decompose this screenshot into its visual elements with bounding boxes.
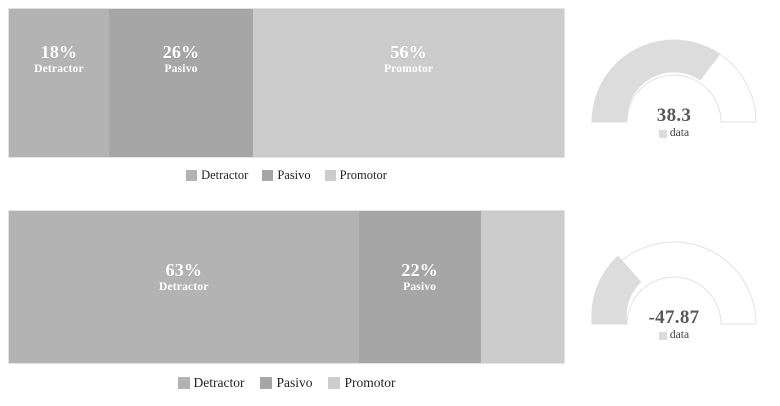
legend-swatch-icon: [328, 377, 340, 389]
bar-segment-promotor[interactable]: 56% Promotor: [253, 9, 564, 157]
gauge-series-swatch-icon: [659, 332, 667, 340]
gauge-chart-panel-2: -47.87 data: [572, 210, 776, 402]
nps-dashboard: 18% Detractor 26% Pasivo 56% Promotor: [0, 0, 780, 406]
bar-segment-percent: 18%: [41, 43, 78, 62]
legend-item-pasivo[interactable]: Pasivo: [260, 376, 312, 390]
bar-segment-percent: 26%: [163, 43, 200, 62]
gauge-arc-graphic: [584, 232, 764, 332]
chart-legend-2: Detractor Pasivo Promotor: [8, 376, 565, 390]
legend-swatch-icon: [178, 377, 190, 389]
legend-item-label: Detractor: [201, 169, 248, 182]
bar-segment-name: Promotor: [384, 62, 433, 77]
legend-item-promotor[interactable]: Promotor: [325, 169, 387, 182]
bar-segment-name: Pasivo: [403, 280, 436, 295]
gauge-chart-1: 38.3 data: [572, 8, 776, 198]
bar-segment-name: Detractor: [34, 62, 84, 77]
bar-segment-label-group: 22% Pasivo: [359, 261, 481, 295]
legend-item-label: Promotor: [340, 169, 387, 182]
bar-segment-detractor[interactable]: 18% Detractor: [9, 9, 109, 157]
bar-segment-label-group: 18% Detractor: [9, 43, 109, 77]
chart-legend-1: Detractor Pasivo Promotor: [8, 169, 565, 182]
nps-chart-panel-1: 18% Detractor 26% Pasivo 56% Promotor: [8, 8, 565, 198]
legend-item-detractor[interactable]: Detractor: [178, 376, 245, 390]
legend-item-pasivo[interactable]: Pasivo: [262, 169, 310, 182]
gauge-chart-2: -47.87 data: [572, 210, 776, 400]
bar-segment-name: Pasivo: [164, 62, 197, 77]
legend-item-label: Detractor: [194, 376, 245, 390]
legend-swatch-icon: [325, 170, 336, 181]
bar-segment-percent: 63%: [166, 261, 203, 280]
legend-swatch-icon: [262, 170, 273, 181]
nps-chart-panel-2: 63% Detractor 22% Pasivo Detra: [8, 210, 565, 402]
legend-item-label: Promotor: [344, 376, 395, 390]
stacked-bar-chart-1: 18% Detractor 26% Pasivo 56% Promotor: [8, 8, 565, 158]
bar-segment-label-group: 63% Detractor: [9, 261, 359, 295]
bar-segment-label-group: 56% Promotor: [253, 43, 564, 77]
legend-swatch-icon: [260, 377, 272, 389]
bar-segment-pasivo[interactable]: 26% Pasivo: [109, 9, 253, 157]
gauge-series-swatch-icon: [659, 130, 667, 138]
bar-segment-name: Detractor: [159, 280, 209, 295]
bar-segment-detractor[interactable]: 63% Detractor: [9, 211, 359, 363]
stacked-bar-chart-2: 63% Detractor 22% Pasivo: [8, 210, 565, 364]
gauge-arc-graphic: [584, 30, 764, 130]
legend-item-label: Pasivo: [277, 169, 310, 182]
bar-segment-percent: 56%: [390, 43, 427, 62]
bar-segment-percent: 22%: [401, 261, 438, 280]
legend-item-detractor[interactable]: Detractor: [186, 169, 248, 182]
legend-item-label: Pasivo: [276, 376, 312, 390]
gauge-chart-panel-1: 38.3 data: [572, 8, 776, 198]
bar-segment-promotor[interactable]: [481, 211, 564, 363]
legend-item-promotor[interactable]: Promotor: [328, 376, 395, 390]
bar-segment-pasivo[interactable]: 22% Pasivo: [359, 211, 481, 363]
bar-segment-label-group: 26% Pasivo: [109, 43, 253, 77]
legend-swatch-icon: [186, 170, 197, 181]
